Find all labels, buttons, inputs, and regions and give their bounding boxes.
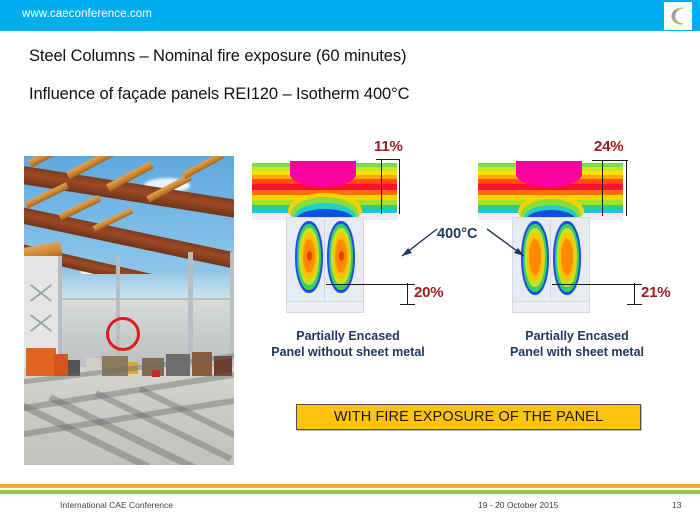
column-bottom-flange <box>512 301 590 313</box>
conference-logo <box>664 2 692 30</box>
caption-left-line1: Partially Encased <box>258 328 438 344</box>
dimension-line-top <box>381 159 382 214</box>
dimension-line-bottom <box>634 283 635 305</box>
isotherm-oval <box>307 251 312 261</box>
photo-transom <box>58 298 234 300</box>
dimension-line-top <box>399 159 400 214</box>
footer-dates: 19 - 20 October 2015 <box>478 500 558 510</box>
dimension-tick-bottom <box>627 284 642 285</box>
photo-lift <box>54 354 68 376</box>
photo-mullion <box>116 256 120 368</box>
footer-conference-name: International CAE Conference <box>60 500 173 510</box>
slide-title-line-2: Influence of façade panels REI120 – Isot… <box>29 85 409 104</box>
slide-title-line-1: Steel Columns – Nominal fire exposure (6… <box>29 47 406 66</box>
photo-mullion <box>58 256 62 368</box>
dimension-line-top <box>602 160 603 216</box>
building-photo <box>24 156 234 465</box>
isotherm-hot-core <box>516 161 582 187</box>
caption-left-line2: Panel without sheet metal <box>258 344 438 360</box>
caption-right: Partially Encased Panel with sheet metal <box>487 328 667 360</box>
footer-rule-green <box>0 490 700 494</box>
column-web <box>550 219 551 313</box>
fire-exposure-banner: WITH FIRE EXPOSURE OF THE PANEL <box>296 404 641 430</box>
photo-glazing <box>58 274 234 300</box>
dimension-line-bottom <box>407 283 408 305</box>
dimension-tick-top <box>592 160 628 161</box>
photo-mullion <box>230 252 234 368</box>
percent-label-bottom-right: 21% <box>641 284 670 301</box>
footer-rule-orange <box>0 484 700 488</box>
dimension-leader-bottom <box>552 284 635 285</box>
isotherm-temperature-label: 400°C <box>437 226 477 242</box>
dimension-line-top <box>626 160 627 216</box>
percent-label-top-left: 11% <box>374 138 403 155</box>
isotherm-oval <box>561 239 573 275</box>
isotherm-oval <box>339 251 344 261</box>
red-circle-highlight-icon <box>106 317 140 351</box>
photo-mullion <box>188 252 193 368</box>
caption-left: Partially Encased Panel without sheet me… <box>258 328 438 360</box>
percent-label-top-right: 24% <box>594 138 623 155</box>
dimension-tick-bottom <box>400 284 415 285</box>
dimension-tick-bottom <box>400 304 415 305</box>
photo-equipment <box>152 370 160 377</box>
column-bottom-flange <box>286 301 364 313</box>
arrow-pointing-right-icon <box>484 224 536 268</box>
dimension-leader-bottom <box>326 284 408 285</box>
thermal-diagram-left <box>252 163 397 313</box>
caption-right-line2: Panel with sheet metal <box>487 344 667 360</box>
photo-lift <box>26 348 56 376</box>
footer-page-number: 13 <box>672 500 681 510</box>
isotherm-hot-core <box>290 161 356 187</box>
site-url[interactable]: www.caeconference.com <box>22 8 152 20</box>
dimension-tick-bottom <box>627 304 642 305</box>
caption-right-line1: Partially Encased <box>487 328 667 344</box>
column-web <box>324 219 325 313</box>
dimension-tick-top <box>376 159 400 160</box>
crescent-logo-icon <box>667 5 689 27</box>
percent-label-bottom-left: 20% <box>414 284 443 301</box>
arrow-pointing-left-icon <box>390 224 440 268</box>
